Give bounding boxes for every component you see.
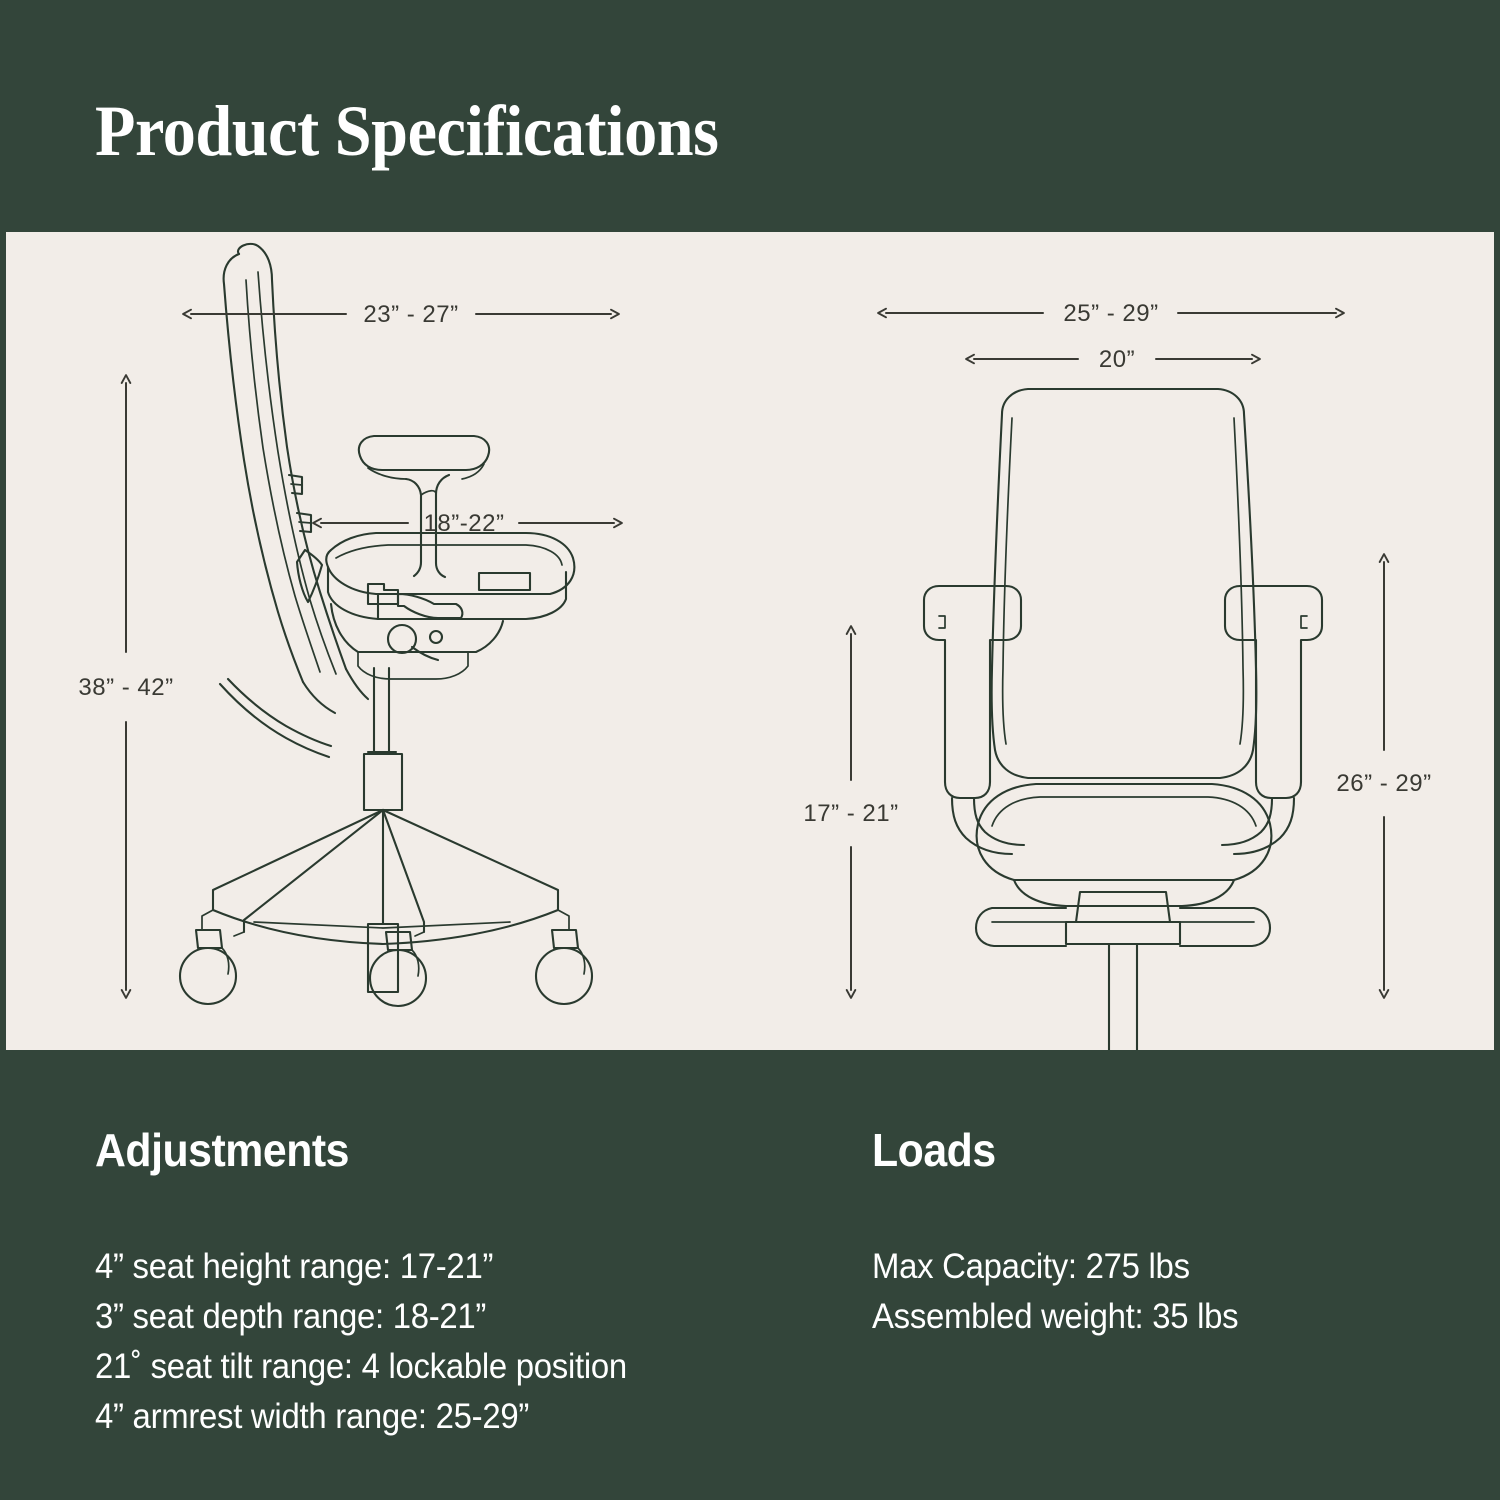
page-title: Product Specifications [95,92,718,170]
adjustments-item-armrest-width: 4” armrest width range: 25-29” [95,1392,627,1442]
header-bar: Product Specifications [0,0,1500,232]
dimension-armrest-height: 26” - 29” [1336,562,1431,990]
dimension-overall-depth: 23” - 27” [191,301,611,328]
adjustments-list: 4” seat height range: 17-21” 3” seat dep… [95,1242,661,1442]
side-view-chair-illustration [180,244,592,1006]
dimension-seat-depth: 18”-22” [321,510,614,537]
dimension-label-armrest-height: 26” - 29” [1336,770,1431,797]
dimension-label-seat-height: 17” - 21” [803,800,898,827]
product-specifications-page: Product Specifications .ln { fill:none; … [0,0,1500,1500]
adjustments-item-seat-tilt: 21˚ seat tilt range: 4 lockable position [95,1342,627,1392]
loads-list: Max Capacity: 275 lbs Assembled weight: … [872,1242,1262,1342]
dimension-label-seat-depth: 18”-22” [424,510,505,537]
loads-heading: Loads [872,1124,996,1176]
dimension-label-overall-depth: 23” - 27” [363,301,458,328]
loads-item-assembled-weight: Assembled weight: 35 lbs [872,1292,1238,1342]
dimension-seat-width: 20” [974,346,1252,373]
dimension-armrest-width: 25” - 29” [886,300,1336,327]
side-view-dimensions: 23” - 27” 18”-22” 38” - 42” [78,301,614,990]
diagram-panel: .ln { fill:none; stroke:#2A3A2F; stroke-… [6,232,1494,1050]
adjustments-item-seat-depth: 3” seat depth range: 18-21” [95,1292,627,1342]
adjustments-item-seat-height: 4” seat height range: 17-21” [95,1242,627,1292]
dimension-label-armrest-width: 25” - 29” [1063,300,1158,327]
loads-item-max-capacity: Max Capacity: 275 lbs [872,1242,1238,1292]
dimension-overall-height: 38” - 42” [78,383,173,990]
front-view-chair-illustration [894,389,1353,1050]
adjustments-heading: Adjustments [95,1124,349,1176]
dimension-seat-height: 17” - 21” [803,634,898,990]
chair-dimension-diagram: .ln { fill:none; stroke:#2A3A2F; stroke-… [6,232,1494,1050]
front-view-dimensions: 25” - 29” 20” 17” - 21” [803,300,1431,990]
dimension-label-overall-height: 38” - 42” [78,674,173,701]
specs-info-section: Adjustments 4” seat height range: 17-21”… [0,1050,1500,1500]
dimension-label-seat-width: 20” [1099,346,1135,373]
